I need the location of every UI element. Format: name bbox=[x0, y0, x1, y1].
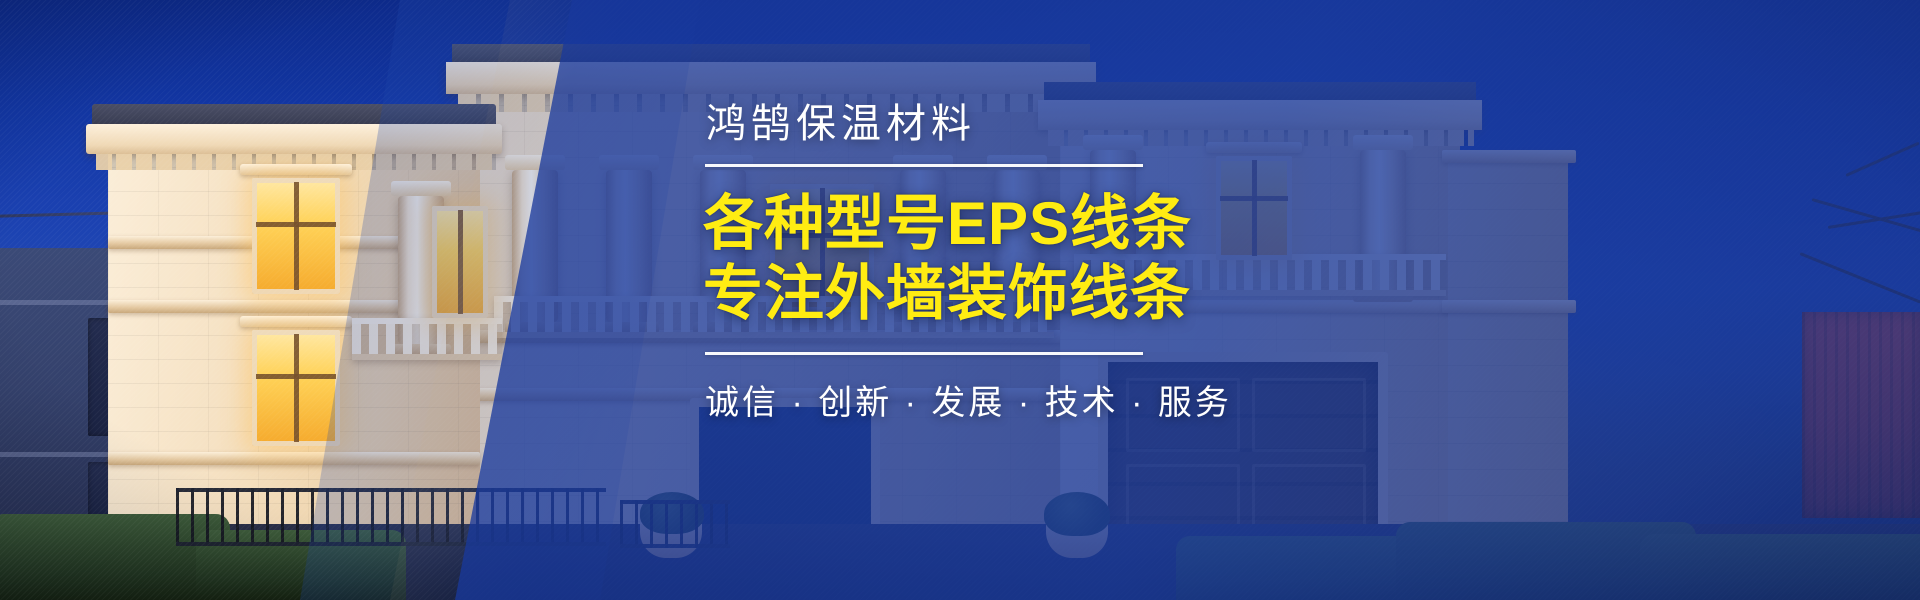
promo-banner: 鸿鹄保温材料 各种型号EPS线条 专注外墙装饰线条 诚信 · 创新 · 发展 ·… bbox=[0, 0, 1920, 600]
window-mullion bbox=[294, 182, 299, 290]
iron-railing bbox=[176, 488, 606, 546]
tagline: 诚信 · 创新 · 发展 · 技术 · 服务 bbox=[705, 375, 1663, 424]
iron-railing bbox=[620, 500, 730, 548]
window-lit bbox=[252, 178, 340, 294]
headline-line-1: 各种型号EPS线条 bbox=[703, 189, 1663, 259]
headline: 各种型号EPS线条 专注外墙装饰线条 bbox=[703, 189, 1663, 328]
balustrade bbox=[352, 318, 502, 360]
villa-center-eave bbox=[446, 62, 1096, 94]
headline-line-2: 专注外墙装饰线条 bbox=[703, 259, 1663, 329]
window-mullion bbox=[458, 210, 463, 314]
banner-content: 鸿鹄保温材料 各种型号EPS线条 专注外墙装饰线条 诚信 · 创新 · 发展 ·… bbox=[703, 104, 1663, 424]
shipping-container bbox=[1802, 312, 1920, 518]
brand-name: 鸿鹄保温材料 bbox=[706, 104, 1663, 144]
window-lit bbox=[252, 330, 340, 446]
divider-top bbox=[705, 164, 1143, 167]
window-lit bbox=[432, 206, 488, 318]
villa-left-eave bbox=[86, 124, 502, 154]
villa-left-band bbox=[108, 452, 480, 465]
window-hood bbox=[240, 164, 352, 175]
window-hood bbox=[240, 316, 352, 327]
window-transom bbox=[256, 374, 336, 379]
shrub bbox=[1044, 492, 1110, 536]
window-mullion bbox=[294, 334, 299, 442]
hedge bbox=[1640, 534, 1920, 600]
divider-bottom bbox=[705, 352, 1143, 355]
window-transom bbox=[256, 222, 336, 227]
